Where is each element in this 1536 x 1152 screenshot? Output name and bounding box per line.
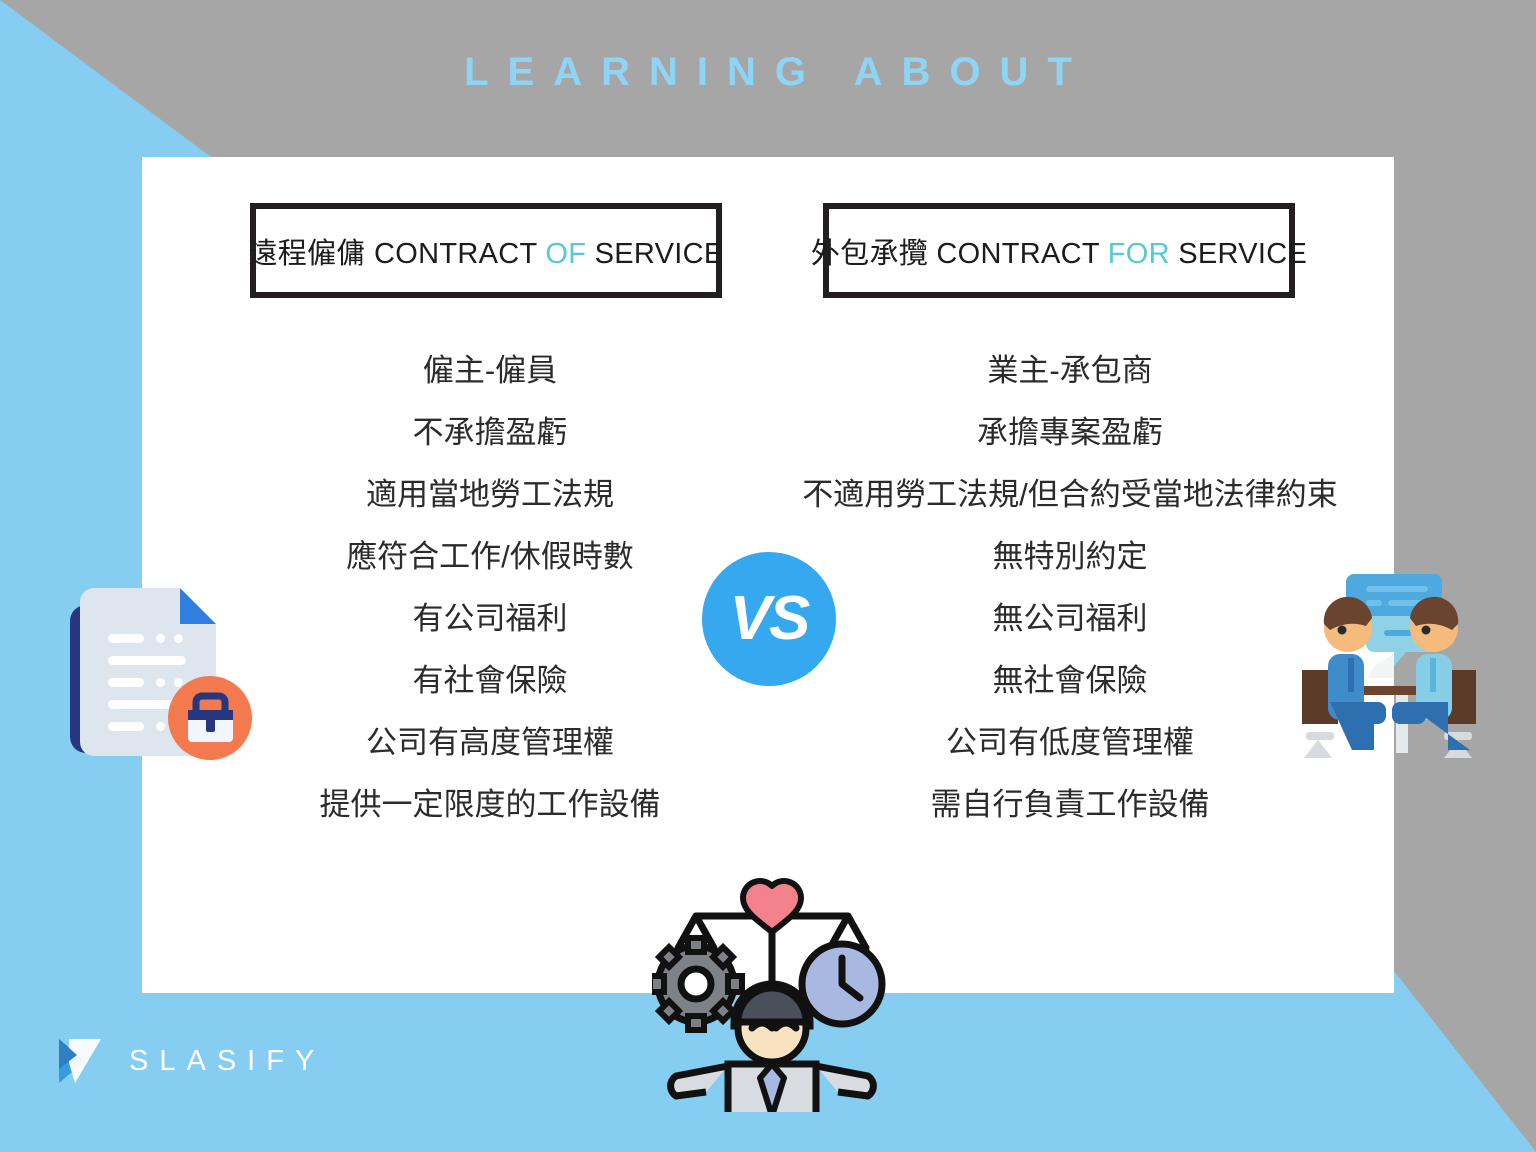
meeting-people-icon: [1292, 562, 1512, 782]
header-label-left: 遠程僱傭 CONTRACT OF SERVICE: [249, 230, 724, 272]
brand-logo[interactable]: SLASIFY: [55, 1035, 325, 1087]
comparison-column-left: 僱主-僱員 不承擔盈虧 適用當地勞工法規 應符合工作/休假時數 有公司福利 有社…: [200, 340, 780, 836]
list-item: 不適用勞工法規/但合約受當地法律約束: [760, 464, 1380, 526]
list-item: 公司有高度管理權: [200, 712, 780, 774]
slasify-logo-icon: [55, 1035, 107, 1087]
list-item: 有公司福利: [200, 588, 780, 650]
comparison-column-right: 業主-承包商 承擔專案盈虧 不適用勞工法規/但合約受當地法律約束 無特別約定 無…: [760, 340, 1380, 836]
contract-document-icon: [62, 570, 262, 770]
list-item: 適用當地勞工法規: [200, 464, 780, 526]
clock-icon: [802, 944, 882, 1024]
list-item: 無公司福利: [760, 588, 1380, 650]
list-item: 提供一定限度的工作設備: [200, 774, 780, 836]
vs-label: VS: [730, 588, 809, 650]
page-title: LEARNING ABOUT: [0, 50, 1536, 95]
header-left-accent: OF: [545, 238, 586, 270]
list-item: 僱主-僱員: [200, 340, 780, 402]
list-item: 應符合工作/休假時數: [200, 526, 780, 588]
vs-badge: VS: [702, 552, 836, 686]
list-item: 業主-承包商: [760, 340, 1380, 402]
list-item: 有社會保險: [200, 650, 780, 712]
work-life-balance-icon: [652, 872, 892, 1112]
list-item: 無特別約定: [760, 526, 1380, 588]
header-right-suffix: SERVICE: [1170, 238, 1307, 270]
list-item: 承擔專案盈虧: [760, 402, 1380, 464]
list-item: 不承擔盈虧: [200, 402, 780, 464]
header-right-prefix: 外包承攬 CONTRACT: [811, 238, 1108, 270]
brand-name: SLASIFY: [129, 1045, 325, 1078]
header-box-contract-for-service: 外包承攬 CONTRACT FOR SERVICE: [823, 203, 1295, 298]
header-left-suffix: SERVICE: [586, 238, 723, 270]
header-left-prefix: 遠程僱傭 CONTRACT: [249, 238, 546, 270]
header-label-right: 外包承攬 CONTRACT FOR SERVICE: [811, 230, 1307, 272]
list-item: 公司有低度管理權: [760, 712, 1380, 774]
header-right-accent: FOR: [1108, 238, 1170, 270]
gear-icon: [652, 938, 742, 1030]
list-item: 無社會保險: [760, 650, 1380, 712]
list-item: 需自行負責工作設備: [760, 774, 1380, 836]
header-box-contract-of-service: 遠程僱傭 CONTRACT OF SERVICE: [250, 203, 722, 298]
